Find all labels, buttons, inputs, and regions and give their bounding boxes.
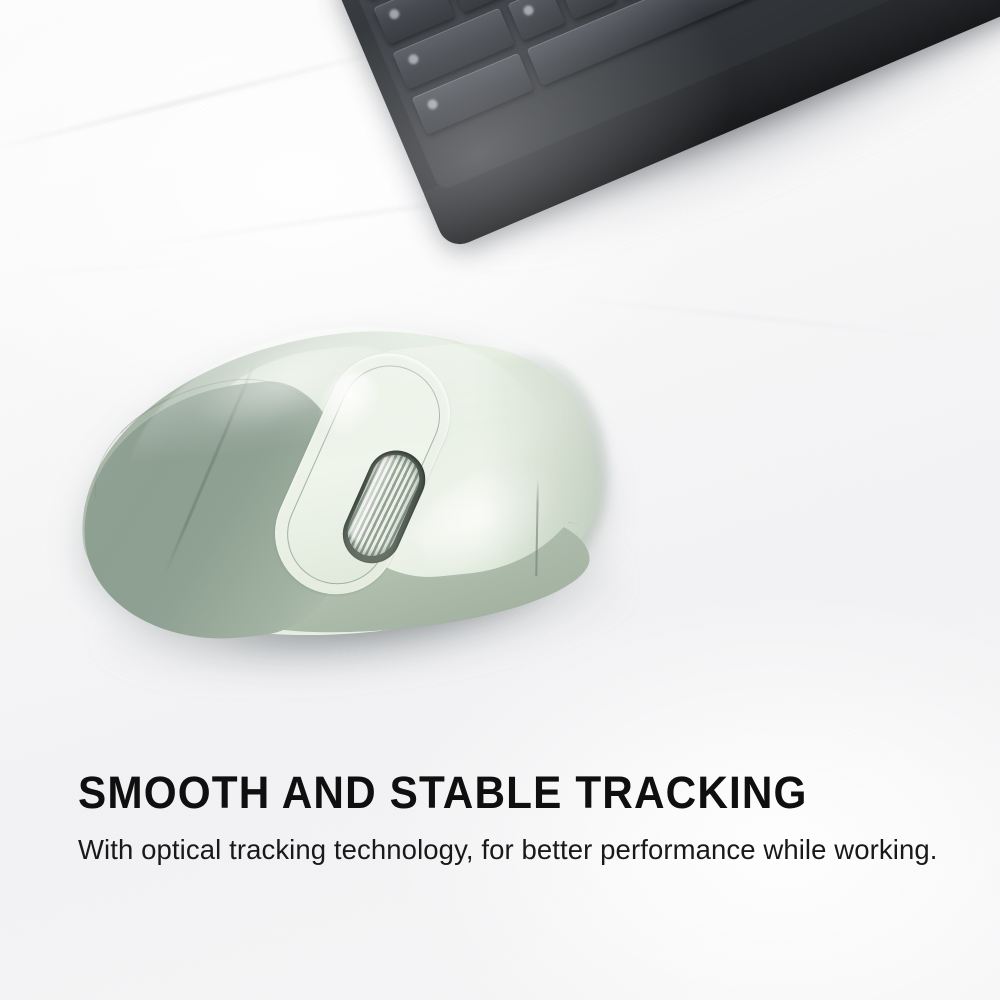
headline: SMOOTH AND STABLE TRACKING xyxy=(78,770,905,815)
mouse-right-edge-shading xyxy=(470,347,619,581)
caption-block: SMOOTH AND STABLE TRACKING With optical … xyxy=(78,770,958,868)
product-photo-canvas: SMOOTH AND STABLE TRACKING With optical … xyxy=(0,0,1000,1000)
body-copy: With optical tracking technology, for be… xyxy=(78,833,958,868)
computer-mouse xyxy=(70,300,650,700)
keyboard-key xyxy=(507,0,565,41)
mouse-body xyxy=(62,283,625,677)
